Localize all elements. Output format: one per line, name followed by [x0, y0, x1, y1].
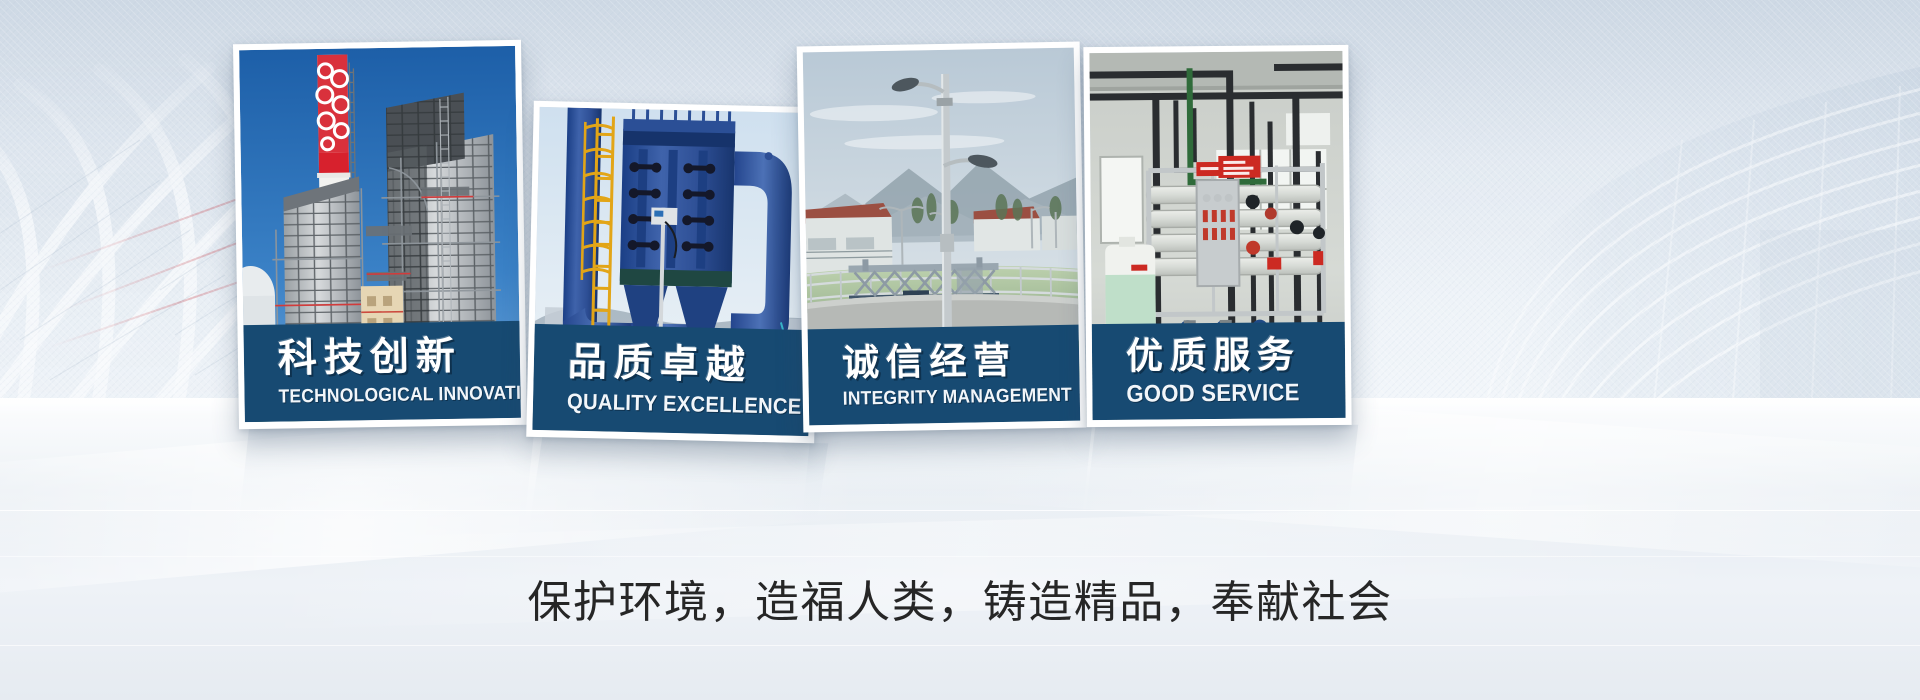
- card-3-title-en: INTEGRITY MANAGEMENT: [843, 386, 1061, 409]
- card-2-title-cn: 品质卓越: [567, 343, 810, 387]
- card-1-title-en: TECHNOLOGICAL INNOVATION: [278, 384, 501, 406]
- card-1-title-cn: 科技创新: [278, 336, 521, 379]
- card-1-label-band: 科技创新 TECHNOLOGICAL INNOVATION: [243, 321, 520, 422]
- culture-card-integrity-management[interactable]: 诚信经营 INTEGRITY MANAGEMENT: [797, 42, 1087, 433]
- culture-card-good-service[interactable]: 优质服务 GOOD SERVICE: [1083, 45, 1351, 427]
- card-2-title-en: QUALITY EXCELLENCE: [567, 391, 790, 418]
- card-3-title-cn: 诚信经营: [842, 341, 1080, 382]
- card-2-label-band: 品质卓越 QUALITY EXCELLENCE: [532, 324, 810, 436]
- company-slogan: 保护环境，造福人类，铸造精品，奉献社会: [0, 566, 1920, 630]
- card-4-title-cn: 优质服务: [1126, 335, 1345, 374]
- company-culture-banner: 科技创新 TECHNOLOGICAL INNOVATION: [0, 0, 1920, 700]
- culture-card-quality-excellence[interactable]: 品质卓越 QUALITY EXCELLENCE: [526, 101, 822, 443]
- card-4-label-band: 优质服务 GOOD SERVICE: [1092, 322, 1346, 420]
- card-4-title-en: GOOD SERVICE: [1126, 381, 1328, 407]
- card-3-label-band: 诚信经营 INTEGRITY MANAGEMENT: [808, 325, 1081, 426]
- culture-card-technological-innovation[interactable]: 科技创新 TECHNOLOGICAL INNOVATION: [233, 40, 527, 429]
